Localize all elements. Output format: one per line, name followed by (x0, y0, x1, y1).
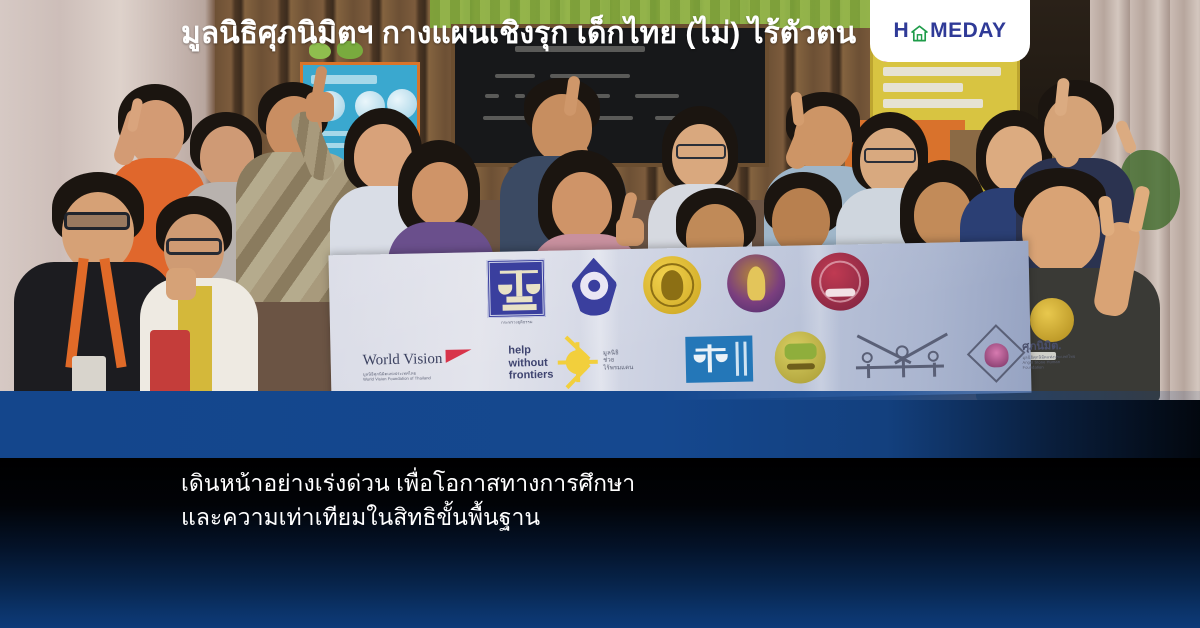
brand-letter-h: H (893, 19, 909, 43)
banner-logo-royal-thai-emblem: กระทรวงยุติธรรม (487, 259, 546, 325)
red-cloth (150, 330, 190, 400)
subheading-text: เดินหน้าอย่างเร่งด่วน เพื่อโอกาสทางการศึ… (181, 466, 635, 534)
eyeglasses (166, 238, 222, 255)
banner-logo-justice-scales (685, 335, 754, 382)
banner-logo-world-vision: World Vision มูลนิธิศุภนิมิตแห่งประเทศไท… (363, 350, 487, 382)
banner-logo-ministry-emblem (571, 257, 618, 316)
brand-text-meday: MEDAY (930, 19, 1006, 43)
headline-bar (0, 391, 1200, 458)
eyeglasses (64, 212, 130, 230)
banner-logo-foundation-diamond: ศุภนิมิต. มูลนิธิศุภนิมิตแห่งประเทศไทยAn… (975, 331, 1080, 375)
banner-logo-help-without-frontiers: helpwithoutfrontiers มูลนิธิช่วยไร้พรมแด… (508, 340, 664, 383)
eyeglasses (676, 144, 726, 159)
banner-logo-dsi-seal (811, 252, 870, 311)
homeday-wordmark: H MEDAY (893, 19, 1006, 43)
homeday-logo-card[interactable]: H MEDAY (870, 0, 1030, 62)
banner-logo-olive-round-seal (774, 331, 825, 384)
event-banner-cloth: กระทรวงยุติธรรม (328, 241, 1031, 400)
house-icon (910, 24, 929, 43)
banner-logo-government-seal (727, 254, 786, 313)
article-banner: กระทรวงยุติธรรม (0, 0, 1200, 628)
banner-logo-child-network (847, 330, 954, 380)
subheading-panel: เดินหน้าอย่างเร่งด่วน เพื่อโอกาสทางการศึ… (0, 458, 1200, 628)
page-title: มูลนิธิศุภนิมิตฯ กางแผนเชิงรุก เด็กไทย (… (181, 0, 856, 67)
banner-logo-garuda-gold-seal (643, 256, 702, 315)
eyeglasses (864, 148, 916, 163)
